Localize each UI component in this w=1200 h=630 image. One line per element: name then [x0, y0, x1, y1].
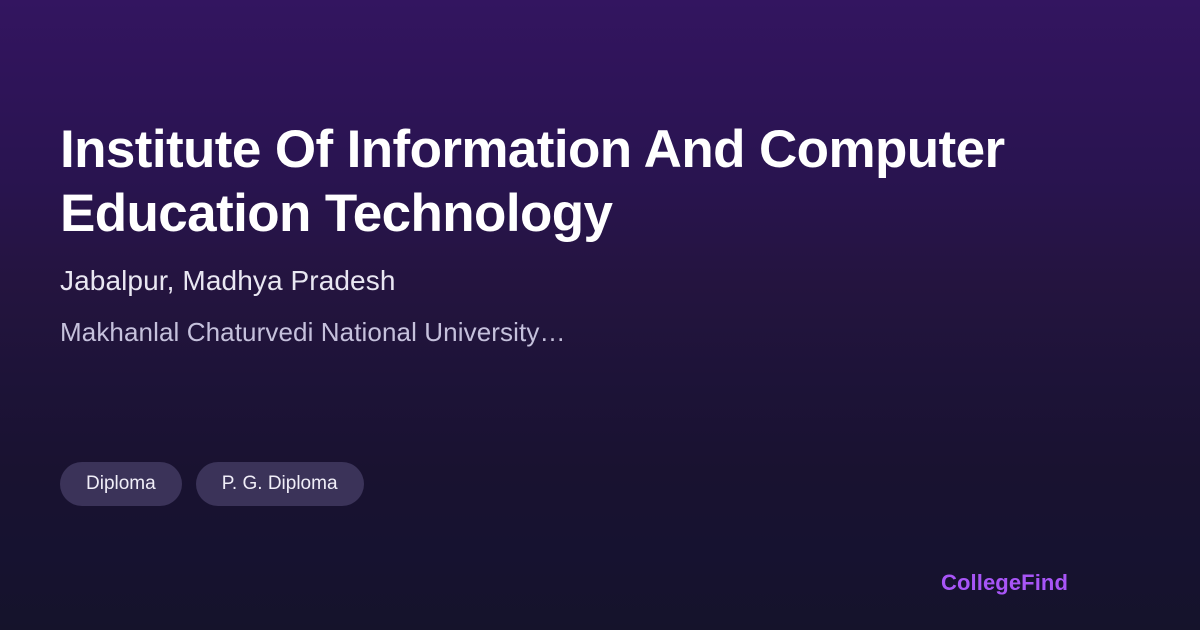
page-title: Institute Of Information And Computer Ed…: [60, 118, 1010, 246]
course-tag-pg-diploma[interactable]: P. G. Diploma: [196, 462, 364, 506]
college-info-block: Institute Of Information And Computer Ed…: [60, 118, 1070, 348]
college-location: Jabalpur, Madhya Pradesh: [60, 264, 1070, 298]
brand-logo-text: CollegeFind: [941, 570, 1068, 596]
college-og-card: Institute Of Information And Computer Ed…: [0, 0, 1200, 630]
course-tag-diploma[interactable]: Diploma: [60, 462, 182, 506]
college-affiliation: Makhanlal Chaturvedi National University…: [60, 316, 1070, 348]
course-tag-list: Diploma P. G. Diploma: [60, 462, 364, 506]
